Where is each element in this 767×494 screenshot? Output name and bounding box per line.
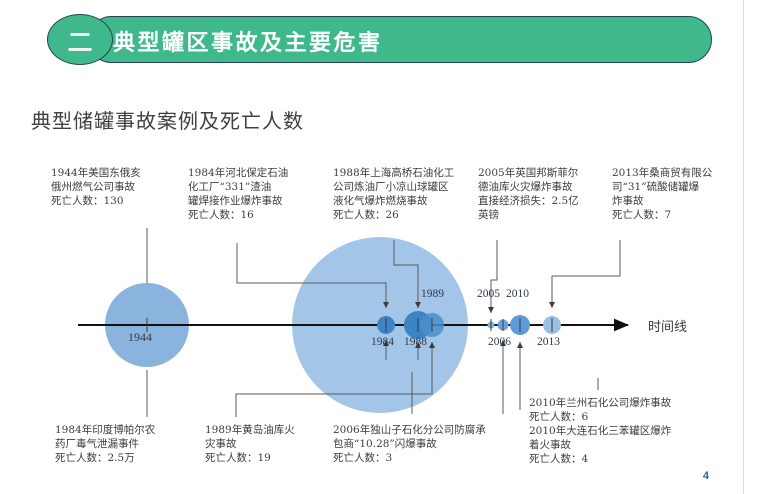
- annotation-2013: 2013年桑商贸有限公 司“31”硫酸储罐爆 炸事故 死亡人数：7: [612, 166, 732, 222]
- slide-root: 二 典型罐区事故及主要危害 典型储罐事故案例及死亡人数: [0, 0, 767, 494]
- annotation-2005: 2005年英国邦斯菲尔 德油库火灾爆炸事故 直接经济损失：2.5亿 英镑: [478, 166, 606, 222]
- page-number: 4: [703, 470, 709, 482]
- year-label-1988: 1988: [404, 336, 427, 348]
- year-label-1984: 1984: [371, 336, 394, 348]
- annotation-2006: 2006年独山子石化分公司防腐承 包商“10.28”闪爆事故 死亡人数：3: [333, 423, 533, 465]
- annotation-1984-baoding: 1984年河北保定石油 化工厂“331”渣油 罐焊接作业爆炸事故 死亡人数：16: [188, 166, 324, 222]
- axis-title: 时间线: [648, 316, 687, 335]
- annotation-1944: 1944年美国东俄亥 俄州燃气公司事故 死亡人数：130: [51, 166, 181, 208]
- year-label-2005: 2005: [477, 288, 500, 300]
- year-label-1944: 1944: [128, 330, 152, 345]
- annotation-1988: 1988年上海高桥石油化工 公司炼油厂小凉山球罐区 液化气爆炸燃烧事故 死亡人数…: [333, 166, 485, 222]
- annotation-2010: 2010年兰州石化公司爆炸事故 死亡人数：6 2010年大连石化三苯罐区爆炸 着…: [529, 396, 739, 466]
- annotation-1984-bhopal: 1984年印度博帕尔农 药厂毒气泄漏事件 死亡人数：2.5万: [55, 423, 195, 465]
- year-label-1989: 1989: [421, 288, 444, 300]
- year-label-2013: 2013: [537, 336, 560, 348]
- annotation-1989: 1989年黄岛油库火 灾事故 死亡人数：19: [205, 423, 325, 465]
- right-edge-rule: [743, 0, 744, 494]
- year-label-2010: 2010: [506, 288, 529, 300]
- year-label-2006: 2006: [488, 336, 511, 348]
